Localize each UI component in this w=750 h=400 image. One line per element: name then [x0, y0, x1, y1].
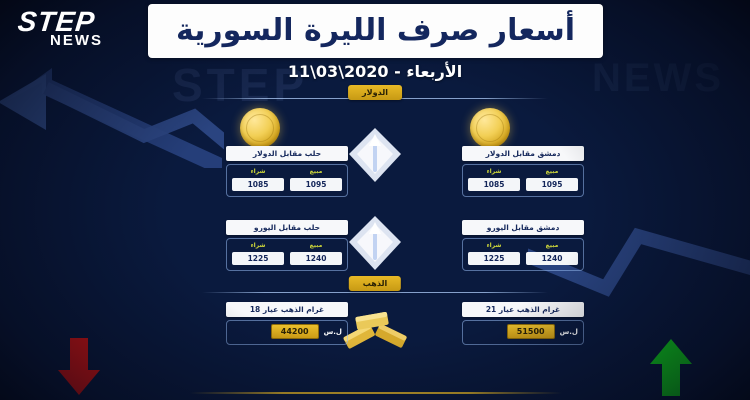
- rate-row-gold: الذهب غرام الذهب عيار 21: [0, 280, 750, 400]
- rate-card[interactable]: حلب مقابل الدولار شراء 1085 مبيع 1095: [226, 146, 348, 197]
- white-diamond-emblem-icon: [343, 122, 407, 186]
- rate-cell-caption: مبيع: [290, 242, 342, 249]
- gold-card-body: 51500 ل.س: [462, 320, 584, 345]
- white-diamond-emblem-icon: [343, 210, 407, 274]
- rate-card-label: دمشق مقابل الدولار: [462, 146, 584, 161]
- headline-box: أسعار صرف الليرة السورية: [148, 4, 603, 58]
- rate-cell-value: 1085: [232, 178, 284, 191]
- rate-cell-caption: مبيع: [290, 168, 342, 175]
- page-title: أسعار صرف الليرة السورية: [176, 14, 575, 48]
- rate-cell: مبيع 1095: [526, 168, 578, 191]
- rate-cell: شراء 1225: [468, 242, 520, 265]
- row-header-gold: الذهب: [349, 276, 401, 291]
- rate-cell: مبيع 1240: [526, 242, 578, 265]
- news-graphic-canvas: STEP NEWS الدولار: [0, 0, 750, 400]
- rate-cell-caption: شراء: [232, 168, 284, 175]
- rate-cell: شراء 1225: [232, 242, 284, 265]
- logo-news-text: NEWS: [50, 33, 103, 48]
- rate-cell-value: 1225: [468, 252, 520, 265]
- rate-cell-value: 1240: [526, 252, 578, 265]
- rate-cell-caption: مبيع: [526, 242, 578, 249]
- rate-card-label: دمشق مقابل اليورو: [462, 220, 584, 235]
- rate-cell-value: 1085: [468, 178, 520, 191]
- rate-cell-value: 1095: [526, 178, 578, 191]
- rate-card-label: حلب مقابل اليورو: [226, 220, 348, 235]
- rate-card[interactable]: دمشق مقابل اليورو شراء 1225 مبيع 1240: [462, 220, 584, 271]
- gold-card-value: 51500: [507, 324, 555, 339]
- rate-row-dollar: الدولار دمشق مقابل الدولار شراء 1085: [0, 84, 750, 192]
- row-header-dollar: الدولار: [348, 85, 402, 100]
- row-divider: [202, 292, 548, 293]
- rate-cell-caption: شراء: [232, 242, 284, 249]
- rate-cell-value: 1225: [232, 252, 284, 265]
- gold-coin-icon: [240, 108, 280, 148]
- rate-cell: مبيع 1095: [290, 168, 342, 191]
- gold-rate-card[interactable]: غرام الذهب عيار 18 44200 ل.س: [226, 302, 348, 345]
- rate-card-body: شراء 1225 مبيع 1240: [226, 238, 348, 271]
- rate-row-euro: اليورو دمشق مقابل اليورو شراء 1225 مبيع …: [0, 192, 750, 280]
- gold-card-unit: ل.س: [324, 328, 342, 336]
- rate-cell-value: 1095: [290, 178, 342, 191]
- gold-rate-card[interactable]: غرام الذهب عيار 21 51500 ل.س: [462, 302, 584, 345]
- gold-card-value: 44200: [271, 324, 319, 339]
- rate-card[interactable]: حلب مقابل اليورو شراء 1225 مبيع 1240: [226, 220, 348, 271]
- rates-rows: الدولار دمشق مقابل الدولار شراء 1085: [0, 84, 750, 400]
- rate-cell-caption: شراء: [468, 168, 520, 175]
- rate-cell: شراء 1085: [468, 168, 520, 191]
- gold-card-label: غرام الذهب عيار 18: [226, 302, 348, 317]
- rate-cell: شراء 1085: [232, 168, 284, 191]
- gold-card-body: 44200 ل.س: [226, 320, 348, 345]
- rate-cell-value: 1240: [290, 252, 342, 265]
- gold-card-unit: ل.س: [560, 328, 578, 336]
- gold-coin-icon: [470, 108, 510, 148]
- rate-card-label: حلب مقابل الدولار: [226, 146, 348, 161]
- rate-cell-caption: مبيع: [526, 168, 578, 175]
- rate-cell-caption: شراء: [468, 242, 520, 249]
- rate-card-body: شراء 1225 مبيع 1240: [462, 238, 584, 271]
- step-news-logo[interactable]: STEP NEWS: [8, 6, 112, 54]
- gold-bars-icon: [340, 308, 410, 356]
- date-line: الأربعاء - 2020\03\11: [0, 62, 750, 81]
- rate-cell: مبيع 1240: [290, 242, 342, 265]
- rate-card[interactable]: دمشق مقابل الدولار شراء 1085 مبيع 1095: [462, 146, 584, 197]
- bottom-gold-divider: [190, 392, 562, 394]
- gold-card-label: غرام الذهب عيار 21: [462, 302, 584, 317]
